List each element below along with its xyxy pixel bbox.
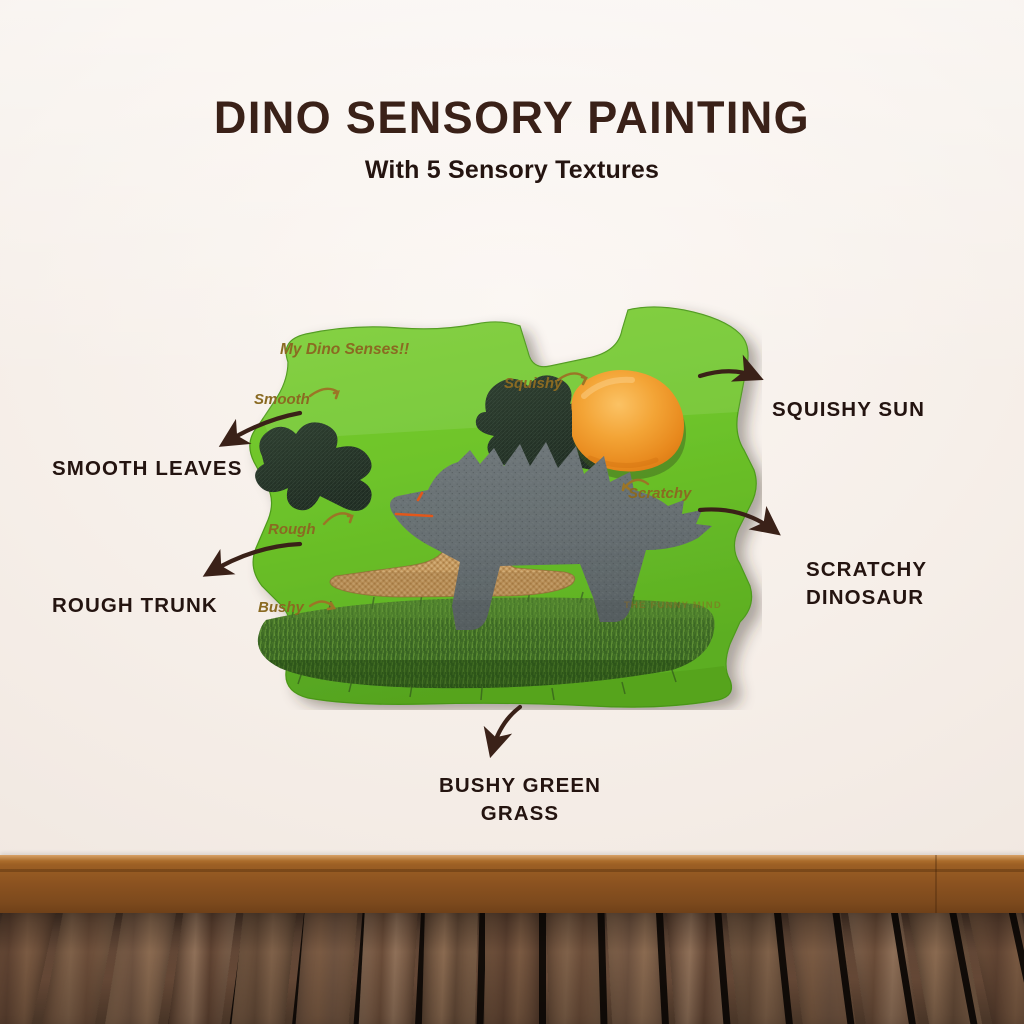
baseboard-top-edge [0,855,1024,861]
texture-label-smooth: Smooth [254,391,310,408]
texture-label-rough: Rough [268,521,315,538]
wood-floor [0,913,1024,1024]
floor-plank [104,913,177,1024]
baseboard-groove [0,869,1024,872]
texture-label-squishy: Squishy [504,375,563,392]
sensory-board: My Dino Senses!! Smooth Rough Squishy Sc… [232,300,762,710]
callout-squishy-sun: SQUISHY SUN [772,396,1012,424]
floor-plank [546,913,603,1024]
board-heading: My Dino Senses!! [280,341,409,358]
texture-label-scratchy: Scratchy [628,485,692,502]
baseboard-seam [935,855,937,915]
floor-plank [485,913,538,1024]
artwork-watermark: THE FUNNY MIND [624,600,722,611]
callout-scratchy-dinosaur: SCRATCHY DINOSAUR [806,556,1024,613]
baseboard [0,855,1024,915]
callout-smooth-leaves: SMOOTH LEAVES [52,455,282,483]
floor-plank-gap [539,913,546,1024]
floor-plank [358,913,418,1024]
board-artwork-svg: My Dino Senses!! Smooth Rough Squishy Sc… [232,300,762,710]
product-infographic: DINO SENSORY PAINTING With 5 Sensory Tex… [0,0,1024,1024]
callout-rough-trunk: ROUGH TRUNK [52,592,282,620]
floor-plank [168,913,238,1024]
floor-plank [422,913,479,1024]
floor-plank [295,913,358,1024]
page-subtitle: With 5 Sensory Textures [0,156,1024,185]
callout-bushy-green-grass: BUSHY GREEN GRASS [382,772,658,829]
page-title: DINO SENSORY PAINTING [0,92,1024,144]
floor-plank [231,913,298,1024]
